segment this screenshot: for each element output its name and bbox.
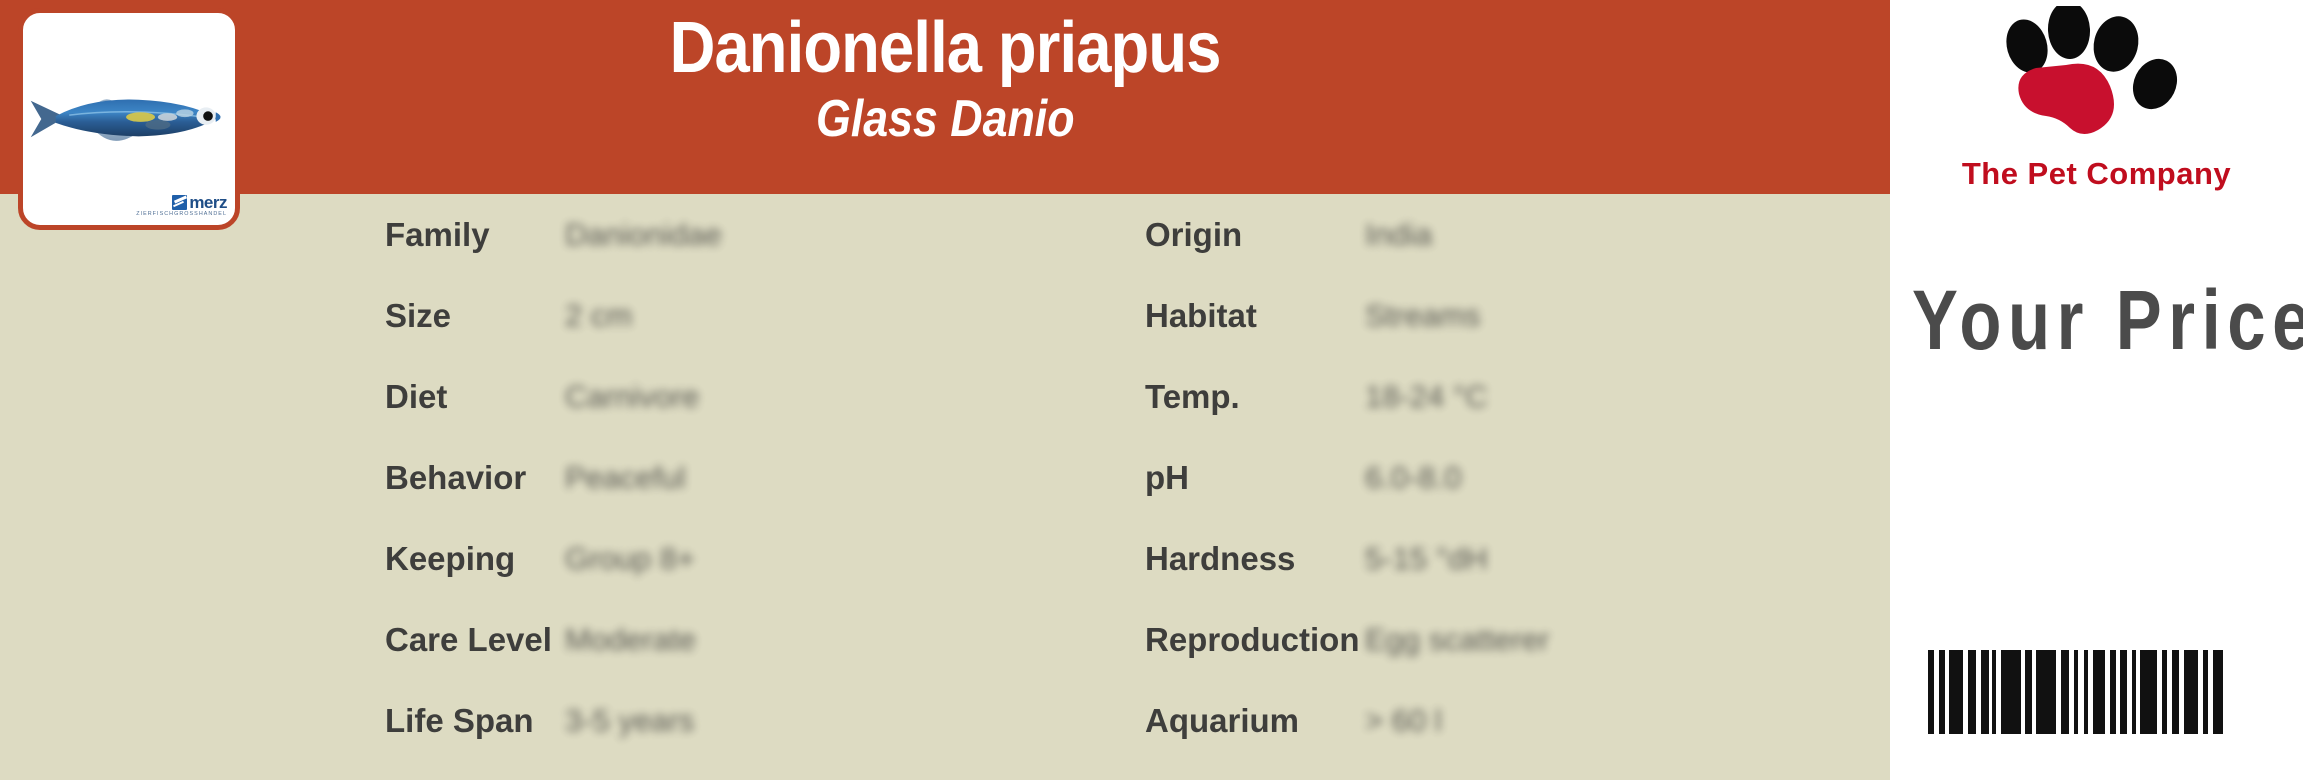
barcode-bar (2001, 650, 2021, 734)
spec-row: Family Danionidae (385, 194, 1085, 275)
spec-row: Origin India (1145, 194, 1890, 275)
page-subtitle: Glass Danio (816, 91, 1074, 148)
merz-logo-icon (172, 195, 187, 210)
main-panel: Danionella priapus Glass Danio (0, 0, 1890, 780)
spec-value: Egg scatterer (1365, 622, 1549, 658)
spec-value: 18-24 °C (1365, 379, 1488, 415)
species-photo-card: merz ZIERFISCHGROSSHANDEL (18, 8, 240, 230)
spec-row: Habitat Streams (1145, 275, 1890, 356)
page-title: Danionella priapus (669, 8, 1220, 89)
spec-value: 5-15 °dH (1365, 541, 1488, 577)
spec-column-right: Origin India Habitat Streams Temp. 18-24… (1145, 194, 1890, 761)
spec-row: Keeping Group 8+ (385, 518, 1085, 599)
spec-row: Hardness 5-15 °dH (1145, 518, 1890, 599)
spec-row: Temp. 18-24 °C (1145, 356, 1890, 437)
merz-wordmark: merz (189, 194, 227, 211)
spec-value: 3-5 years (565, 703, 694, 739)
spec-value: Peaceful (565, 460, 686, 496)
spec-value: 6.0-8.0 (1365, 460, 1462, 496)
spec-row: pH 6.0-8.0 (1145, 437, 1890, 518)
barcode-bar (1981, 650, 1989, 734)
spec-value: > 60 l (1365, 703, 1442, 739)
spec-row: Aquarium > 60 l (1145, 680, 1890, 761)
spec-label: Hardness (1145, 540, 1365, 578)
brand-name: The Pet Company (1890, 156, 2303, 192)
barcode-bar (2172, 650, 2179, 734)
spec-row: Care Level Moderate (385, 599, 1085, 680)
spec-label: pH (1145, 459, 1365, 497)
spec-label: Keeping (385, 540, 565, 578)
sidebar-panel: The Pet Company Your Price (1890, 0, 2303, 780)
merz-tagline: ZIERFISCHGROSSHANDEL (136, 212, 227, 217)
barcode-bar (2093, 650, 2105, 734)
spec-row: Behavior Peaceful (385, 437, 1085, 518)
barcode-bar (2036, 650, 2056, 734)
spec-label: Temp. (1145, 378, 1365, 416)
paw-print-icon (1994, 6, 2194, 154)
spec-column-left: Family Danionidae Size 2 cm Diet Carnivo… (385, 194, 1085, 761)
spec-row: Size 2 cm (385, 275, 1085, 356)
spec-label: Diet (385, 378, 565, 416)
barcode-bar (2061, 650, 2069, 734)
barcode-bar (2025, 650, 2032, 734)
barcode-bar (1968, 650, 1976, 734)
spec-row: Life Span 3-5 years (385, 680, 1085, 761)
price-label: Your Price (1912, 272, 2303, 369)
spec-label: Habitat (1145, 297, 1365, 335)
spec-value: 2 cm (565, 298, 632, 334)
barcode-icon (1928, 650, 2268, 734)
fish-icon (23, 82, 235, 156)
barcode-bar (1949, 650, 1963, 734)
barcode-bar (2213, 650, 2223, 734)
spec-value: Carnivore (565, 379, 699, 415)
spec-label: Aquarium (1145, 702, 1365, 740)
spec-label: Care Level (385, 621, 565, 659)
spec-label: Reproduction (1145, 621, 1365, 659)
brand-logo: The Pet Company (1890, 4, 2303, 196)
spec-value: Streams (1365, 298, 1480, 334)
spec-row: Diet Carnivore (385, 356, 1085, 437)
barcode-bar (2120, 650, 2127, 734)
spec-value: Danionidae (565, 217, 722, 253)
spec-label: Life Span (385, 702, 565, 740)
spec-row: Reproduction Egg scatterer (1145, 599, 1890, 680)
spec-label: Family (385, 216, 565, 254)
spec-value: Group 8+ (565, 541, 695, 577)
label-card: Danionella priapus Glass Danio (0, 0, 2303, 780)
merz-watermark: merz ZIERFISCHGROSSHANDEL (136, 194, 227, 217)
spec-label: Behavior (385, 459, 565, 497)
title-block: Danionella priapus Glass Danio (0, 0, 1890, 194)
fish-image (23, 82, 235, 156)
spec-value: India (1365, 217, 1432, 253)
spec-label: Origin (1145, 216, 1365, 254)
barcode-bar (2140, 650, 2157, 734)
barcode-bar (2184, 650, 2198, 734)
spec-value: Moderate (565, 622, 696, 658)
spec-label: Size (385, 297, 565, 335)
